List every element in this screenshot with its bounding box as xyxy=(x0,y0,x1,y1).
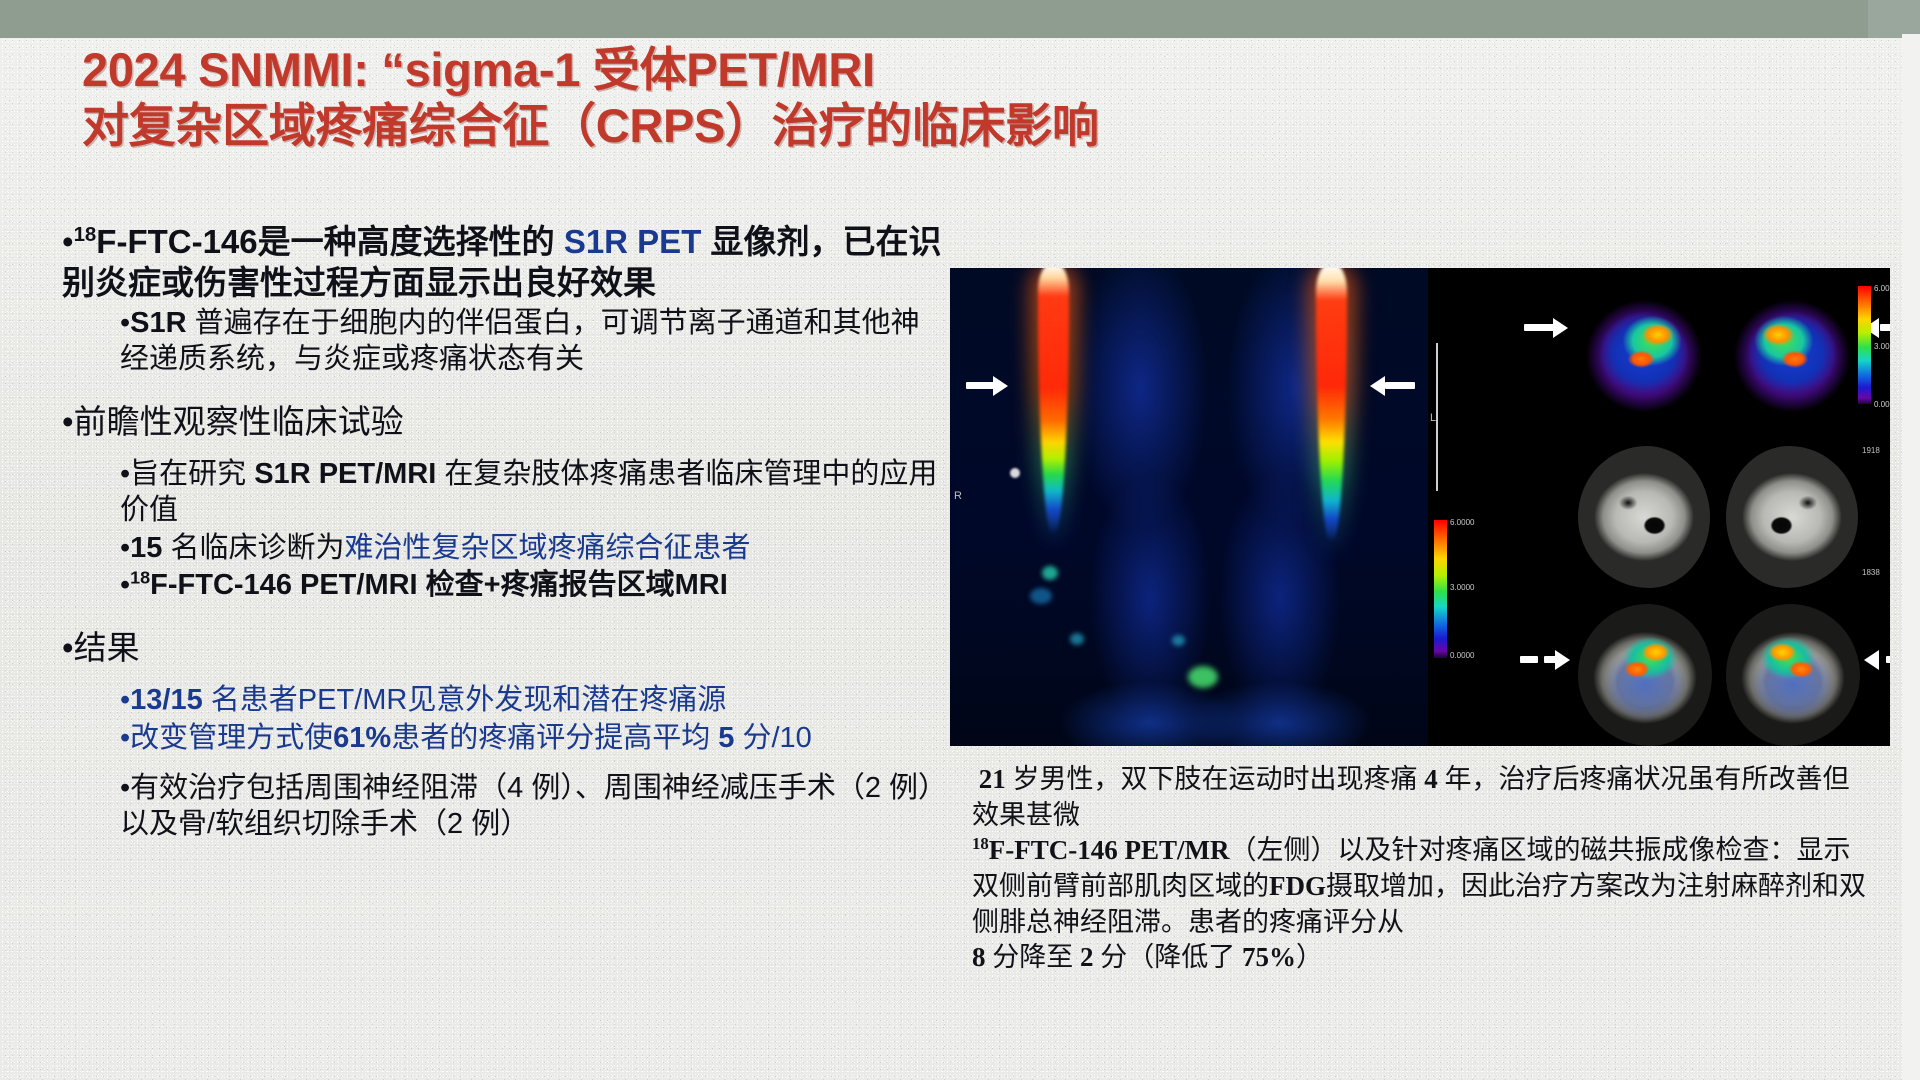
bullet-2-2-highlight: 难治性复杂区域疼痛综合征患者 xyxy=(344,532,750,564)
caption-line-2: 18F-FTC-146 PET/MR（左侧）以及针对疼痛区域的磁共振成像检查：显… xyxy=(972,833,1872,940)
bullet-3-1-text: 名患者PET/MR见意外发现和潜在疼痛源 xyxy=(203,684,727,716)
coronal-pet-image: R xyxy=(950,268,1428,746)
bullet-2-3-text: F-FTC-146 PET/MRI 检查+疼痛报告区域MRI xyxy=(150,569,728,601)
bullet-3: •结果 xyxy=(62,628,947,669)
caption-duration: 4 xyxy=(1424,764,1438,794)
bullet-3-2-post: 分/10 xyxy=(734,722,811,754)
pet-mri-figure: R xyxy=(950,268,1890,746)
bullet-2-2-count: 15 xyxy=(130,532,162,564)
figure-colorbar-min-label: 0.0000 xyxy=(1874,400,1890,409)
top-color-band xyxy=(0,0,1920,38)
slide-canvas: 2024 SNMMI: “sigma-1 受体PET/MRI 对复杂区域疼痛综合… xyxy=(0,0,1920,1080)
title-line-1: 2024 SNMMI: “sigma-1 受体PET/MRI xyxy=(82,43,875,96)
caption-line-1-a: 岁男性，双下肢在运动时出现疼痛 xyxy=(1006,764,1425,794)
focal-uptake-speck xyxy=(1030,588,1052,604)
bullet-2-1-pre: 旨在研究 xyxy=(130,458,254,490)
bullet-2: •前瞻性观察性临床试验 xyxy=(62,402,947,443)
right-margin-strip xyxy=(1902,34,1920,1080)
foot-focal-uptake xyxy=(1188,666,1218,688)
focal-uptake-speck xyxy=(1070,633,1084,645)
bullet-3-1: •13/15 名患者PET/MR见意外发现和潜在疼痛源 xyxy=(62,683,947,719)
bullet-1-1: •S1R 普遍存在于细胞内的伴侣蛋白，可调节离子通道和其他神经递质系统，与炎症或… xyxy=(62,306,947,378)
orientation-label-right: R xyxy=(954,490,962,502)
spacer xyxy=(62,759,947,771)
caption-score-after: 2 xyxy=(1080,942,1094,972)
caption-reduction-percent: 75% xyxy=(1242,942,1296,972)
orientation-label-left: L xyxy=(1430,412,1436,424)
content-bullet-list: •18F-FTC-146是一种高度选择性的 S1R PET 显像剂，已在识别炎症… xyxy=(62,222,947,1012)
caption-line-1: 21 岁男性，双下肢在运动时出现疼痛 4 年，治疗后疼痛状况虽有所改善但效果甚微 xyxy=(972,762,1872,833)
bullet-1-superscript: 18 xyxy=(74,223,97,246)
annotation-arrow-right-icon xyxy=(1520,650,1574,670)
axial-series-panel: L 6.0000 3.0000 0.0000 xyxy=(1428,268,1890,746)
spacer xyxy=(62,380,947,402)
figure-right-colorbar xyxy=(1858,286,1871,404)
bullet-3-1-ratio: 13/15 xyxy=(130,684,203,716)
mr-scale-top-label: 1918 xyxy=(1862,446,1880,455)
caption-line-3-m2: 分（降低了 xyxy=(1094,942,1243,972)
bullet-2-2-mid: 名临床诊断为 xyxy=(162,532,344,564)
mr-intensity-scalebar xyxy=(1436,343,1438,491)
caption-fdg: FDG xyxy=(1269,871,1326,901)
spacer xyxy=(62,671,947,683)
annotation-arrow-left-icon xyxy=(1370,376,1414,396)
bullet-3-2: •改变管理方式使61%患者的疼痛评分提高平均 5 分/10 xyxy=(62,721,947,757)
bullet-3-3-text: 有效治疗包括周围神经阻滞（4 例）、周围神经减压手术（2 例）以及骨/软组织切除… xyxy=(120,772,933,840)
figure-colorbar-max-label: 6.0000 xyxy=(1874,284,1890,293)
top-color-band-right xyxy=(1868,0,1920,38)
axial-pet-right-calf xyxy=(1576,274,1712,426)
axial-mr-right-calf xyxy=(1578,446,1710,588)
bone-hotspot xyxy=(1010,468,1020,478)
bullet-1: •18F-FTC-146是一种高度选择性的 S1R PET 显像剂，已在识别炎症… xyxy=(62,222,947,304)
axial-fusion-left-calf xyxy=(1726,604,1860,746)
caption-line-3-m1: 分降至 xyxy=(986,942,1081,972)
bullet-3-text: 结果 xyxy=(74,629,140,666)
bullet-1-1-text: 普遍存在于细胞内的伴侣蛋白，可调节离子通道和其他神经递质系统，与炎症或疼痛状态有… xyxy=(120,307,920,375)
spacer xyxy=(62,606,947,628)
bullet-2-2: •15 名临床诊断为难治性复杂区域疼痛综合征患者 xyxy=(62,531,947,567)
annotation-arrow-right-icon xyxy=(1524,318,1572,338)
bullet-2-3-superscript: 18 xyxy=(130,568,150,588)
mr-scale-bottom-label: 1838 xyxy=(1862,568,1880,577)
bullet-3-2-pre: 改变管理方式使 xyxy=(130,722,333,754)
bullet-3-3: •有效治疗包括周围神经阻滞（4 例）、周围神经减压手术（2 例）以及骨/软组织切… xyxy=(62,771,947,843)
annotation-arrow-right-icon xyxy=(966,376,1010,396)
caption-age: 21 xyxy=(979,764,1006,794)
figure-colorbar-mid-label: 3.0000 xyxy=(1874,342,1890,351)
caption-tracer: F-FTC-146 PET/MR xyxy=(989,835,1230,865)
figure-caption: 21 岁男性，双下肢在运动时出现疼痛 4 年，治疗后疼痛状况虽有所改善但效果甚微… xyxy=(972,762,1872,976)
colorbar-mid-label: 3.0000 xyxy=(1450,583,1474,592)
caption-score-before: 8 xyxy=(972,942,986,972)
bullet-2-1: •旨在研究 S1R PET/MRI 在复杂肢体疼痛患者临床管理中的应用价值 xyxy=(62,457,947,529)
page-title: 2024 SNMMI: “sigma-1 受体PET/MRI 对复杂区域疼痛综合… xyxy=(82,42,1442,155)
annotation-arrow-left-icon xyxy=(1864,650,1890,670)
bullet-2-1-bold: S1R PET/MRI xyxy=(254,458,436,490)
caption-line-3: 8 分降至 2 分（降低了 75%） xyxy=(972,940,1872,976)
bullet-2-3: •18F-FTC-146 PET/MRI 检查+疼痛报告区域MRI xyxy=(62,568,947,604)
bullet-3-2-percent: 61% xyxy=(333,722,391,754)
bullet-1-text-pre: F-FTC-146是一种高度选择性的 xyxy=(96,223,564,260)
caption-line-3-m3: ） xyxy=(1296,942,1323,972)
bullet-2-text: 前瞻性观察性临床试验 xyxy=(74,403,404,440)
focal-uptake-speck xyxy=(1172,635,1185,646)
bullet-3-2-mid: 患者的疼痛评分提高平均 xyxy=(391,722,718,754)
caption-superscript: 18 xyxy=(972,834,989,853)
axial-pet-left-calf xyxy=(1724,274,1860,426)
focal-uptake-speck xyxy=(1042,566,1058,580)
spacer xyxy=(62,445,947,457)
axial-mr-left-calf xyxy=(1726,446,1858,588)
colorbar-min-label: 0.0000 xyxy=(1450,651,1474,660)
bullet-3-2-score: 5 xyxy=(718,722,734,754)
title-line-2: 对复杂区域疼痛综合征（CRPS）治疗的临床影响 xyxy=(82,99,1099,152)
bullet-1-1-lead: S1R xyxy=(130,307,186,339)
colorbar-max-label: 6.0000 xyxy=(1450,518,1474,527)
bullet-1-highlight: S1R PET xyxy=(564,223,702,260)
pet-colorbar xyxy=(1434,520,1447,658)
axial-fusion-right-calf xyxy=(1578,604,1712,746)
